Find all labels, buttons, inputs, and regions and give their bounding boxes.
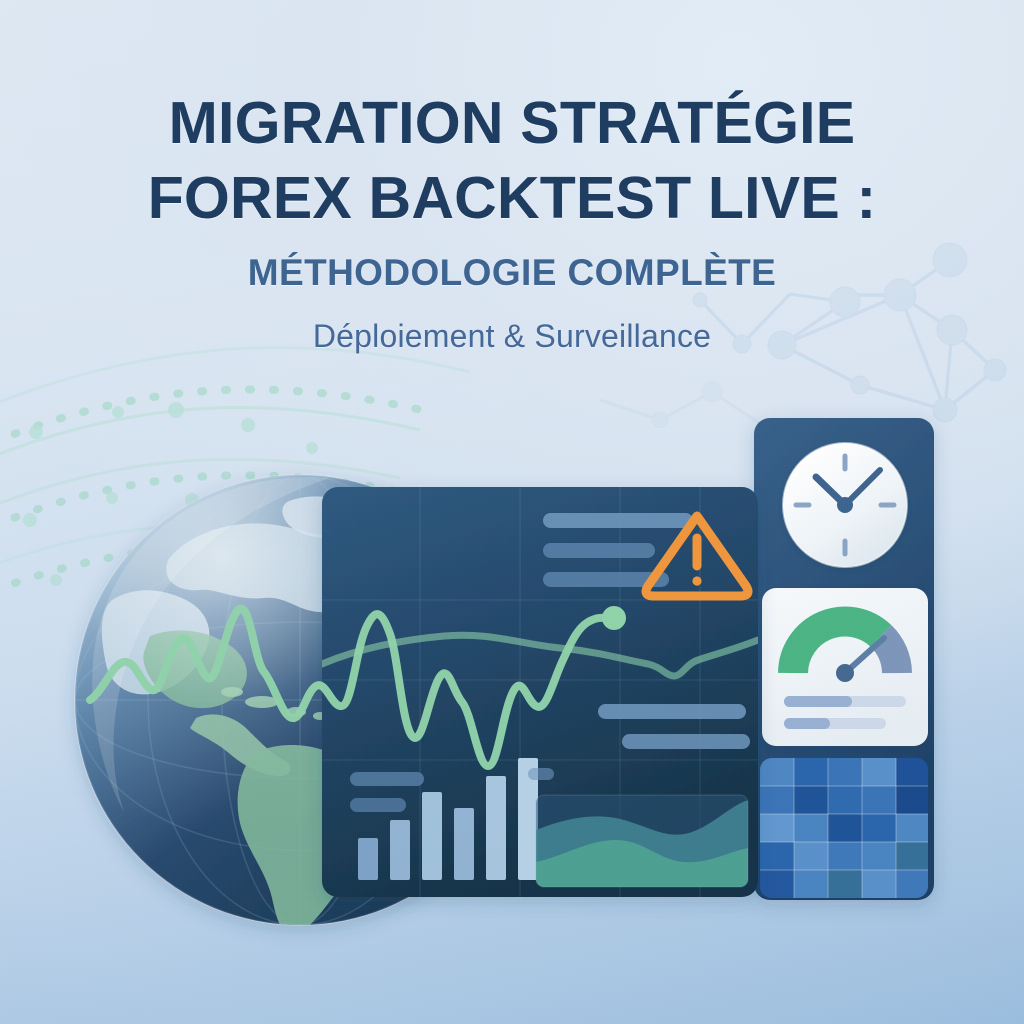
gauge-card [762,588,928,746]
heatmap-cells [760,758,928,898]
title-line-2: FOREX BACKTEST LIVE : [0,161,1024,236]
area-chart-icon [536,795,748,887]
heatmap-grid-icon [760,758,928,898]
network-graph-secondary-icon [600,382,770,430]
tagline: Déploiement & Surveillance [0,316,1024,356]
clock-icon [783,443,907,567]
title-line-1: MIGRATION STRATÉGIE [0,86,1024,161]
poster-canvas: MIGRATION STRATÉGIE FOREX BACKTEST LIVE … [0,0,1024,1024]
headline-block: MIGRATION STRATÉGIE FOREX BACKTEST LIVE … [0,86,1024,356]
subtitle: MÉTHODOLOGIE COMPLÈTE [0,250,1024,296]
panel-chip [528,768,554,780]
